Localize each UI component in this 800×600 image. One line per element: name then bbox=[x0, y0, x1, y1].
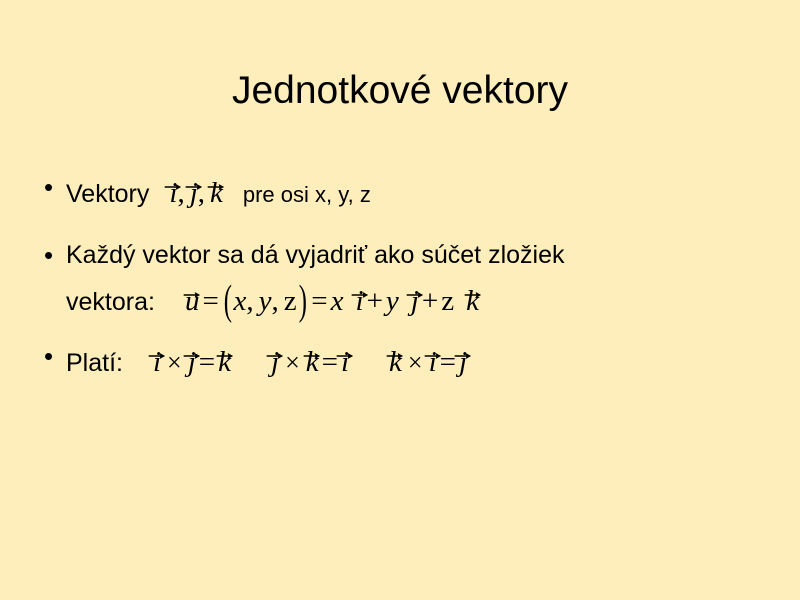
equals-operator: = bbox=[437, 348, 459, 377]
vector-letter: j bbox=[459, 348, 467, 377]
bullet-content: Vektory i , bbox=[66, 168, 764, 214]
component-z: z bbox=[284, 287, 297, 316]
vector-j-glyph: j bbox=[411, 276, 419, 316]
vector-letter: j bbox=[271, 348, 279, 377]
term-scalar-z: z bbox=[441, 287, 454, 316]
component-separator: , bbox=[246, 285, 258, 318]
vector-letter: u bbox=[185, 287, 200, 316]
component-x: x bbox=[233, 287, 246, 316]
vector-letter: i bbox=[153, 348, 161, 377]
bullet-item-cross-products: • Platí: i × bbox=[44, 337, 764, 382]
page-title: Jednotkové vektory bbox=[0, 70, 800, 113]
identity-2-right-vector: k bbox=[306, 337, 319, 377]
bullet-trail-label: pre osi x, y, z bbox=[243, 176, 371, 214]
slide-body: • Vektory i , bbox=[44, 168, 764, 382]
vector-k-glyph: k bbox=[466, 276, 479, 316]
identity-3-left-vector: k bbox=[389, 337, 402, 377]
bullet-text: Každý vektor sa dá vyjadriť ako súčet zl… bbox=[66, 236, 565, 274]
identities-label: Platí: bbox=[66, 344, 123, 382]
vector-letter: j bbox=[411, 287, 419, 316]
cross-operator: × bbox=[161, 350, 188, 376]
vector-letter: i bbox=[429, 348, 437, 377]
open-paren: ( bbox=[223, 278, 233, 326]
identity-1-left-vector: i bbox=[153, 337, 161, 377]
vector-letter: i bbox=[356, 287, 364, 316]
vector-separator: , bbox=[198, 177, 210, 210]
equals-operator: = bbox=[196, 348, 218, 377]
vector-letter: k bbox=[389, 348, 402, 377]
component-y: y bbox=[259, 287, 272, 316]
formula-label: vektora: bbox=[66, 283, 155, 321]
vector-k-glyph: k bbox=[210, 168, 223, 208]
identity-1-result-vector: k bbox=[218, 337, 231, 377]
bullet-marker-icon: • bbox=[44, 337, 66, 375]
vector-letter: k bbox=[218, 348, 231, 377]
identity-3-result-vector: j bbox=[459, 337, 467, 377]
vector-letter: k bbox=[210, 179, 223, 208]
vector-letter: i bbox=[169, 179, 177, 208]
term-scalar-y: y bbox=[386, 287, 399, 316]
bullet-content: Každý vektor sa dá vyjadriť ako súčet zl… bbox=[66, 236, 764, 274]
vector-letter: k bbox=[306, 348, 319, 377]
vector-separator: , bbox=[177, 177, 189, 210]
plus-operator-2: + bbox=[419, 287, 441, 316]
bullet-item-components: • Každý vektor sa dá vyjadriť ako súčet … bbox=[44, 236, 764, 274]
vector-letter: j bbox=[190, 179, 198, 208]
component-separator: , bbox=[271, 285, 283, 318]
formula-line-vector-decomposition: vektora: u = ( x , y , z bbox=[44, 276, 764, 321]
vector-letter: k bbox=[466, 287, 479, 316]
cross-operator: × bbox=[402, 350, 429, 376]
equals-operator: = bbox=[199, 287, 221, 316]
identity-2-result-vector: i bbox=[341, 337, 349, 377]
bullet-marker-icon: • bbox=[44, 236, 66, 274]
equals-operator-2: = bbox=[308, 287, 330, 316]
bullet-item-vectors: • Vektory i , bbox=[44, 168, 764, 214]
equals-operator: = bbox=[319, 348, 341, 377]
vector-j-glyph: j bbox=[190, 168, 198, 208]
vector-letter: i bbox=[341, 348, 349, 377]
vector-u-glyph: u bbox=[185, 276, 200, 316]
identity-2-left-vector: j bbox=[271, 337, 279, 377]
close-paren: ) bbox=[297, 278, 307, 326]
bullet-content: Platí: i × bbox=[66, 337, 764, 382]
vector-i-glyph: i bbox=[169, 168, 177, 208]
bullet-lead-label: Vektory bbox=[66, 175, 149, 213]
term-scalar-x: x bbox=[331, 287, 344, 316]
identity-3-right-vector: i bbox=[429, 337, 437, 377]
plus-operator: + bbox=[364, 287, 386, 316]
vector-letter: j bbox=[188, 348, 196, 377]
formula-content: vektora: u = ( x , y , z bbox=[66, 276, 764, 321]
vector-i-glyph: i bbox=[356, 276, 364, 316]
identity-1-right-vector: j bbox=[188, 337, 196, 377]
slide-canvas: Jednotkové vektory • Vektory i , bbox=[0, 0, 800, 600]
bullet-marker-icon: • bbox=[44, 168, 66, 206]
cross-operator: × bbox=[279, 350, 306, 376]
